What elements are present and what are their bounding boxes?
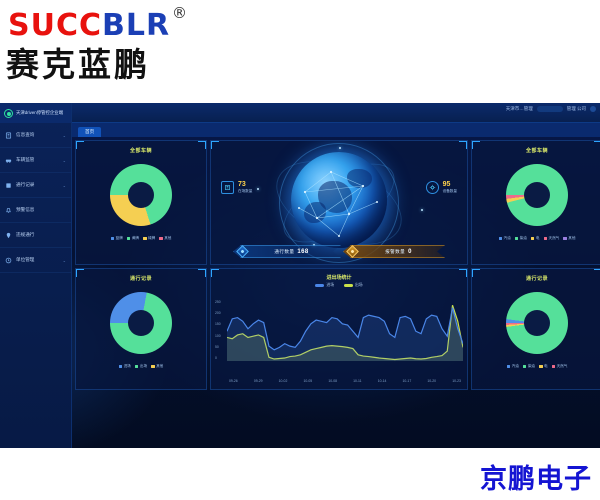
legend-item[interactable]: 其他 (563, 236, 575, 241)
legend-item[interactable]: 蓝牌 (111, 236, 123, 241)
chevron-down-icon: ⌄ (63, 158, 66, 163)
legend-label: 黄牌 (132, 236, 139, 241)
list-icon (5, 182, 12, 189)
y-tick-label: 50 (215, 345, 219, 349)
x-axis-ticks: 09-2609-2910-0210-0510-0810-1110-1410-17… (229, 379, 461, 383)
sidebar-item-label: 车辆监管 (16, 157, 59, 163)
legend-swatch (552, 365, 556, 369)
globe-network-lines (291, 152, 387, 248)
registered-trademark-icon: ® (172, 4, 187, 22)
topbar-avatar[interactable] (590, 106, 596, 112)
legend-label: 出场 (355, 283, 363, 288)
topbar-company-label: 管理 公司 (567, 106, 586, 112)
legend-item[interactable]: 电 (531, 236, 540, 241)
legend-swatch (539, 365, 543, 369)
legend-item[interactable]: 绿牌 (143, 236, 155, 241)
legend-swatch (135, 365, 139, 369)
orbit-dot (257, 188, 259, 190)
chevron-down-icon: ⌄ (63, 183, 66, 188)
legend-item[interactable]: 进场 (119, 364, 131, 369)
legend-label: 进场 (124, 364, 131, 369)
ribbon-alarm-count: 报警数量0 (343, 245, 445, 258)
x-tick-label: 10-23 (452, 379, 461, 383)
legend-label: 其他 (568, 236, 575, 241)
legend-item[interactable]: 天然气 (552, 364, 568, 369)
pin-icon (5, 232, 12, 239)
legend-item[interactable]: 汽油 (499, 236, 511, 241)
sidebar-title: 天津driven停管控企业端 (16, 110, 63, 116)
panel-title: 通行记录 (472, 269, 600, 282)
panel-inout-statistics: 进出场统计 进场出场 250200150100500 09-2609-2910-… (210, 268, 468, 390)
vehicle-card-icon (221, 181, 234, 194)
legend-label: 汽油 (512, 364, 519, 369)
legend-label: 电 (536, 236, 540, 241)
app-topbar: 天津市…管理 管理 公司 (0, 103, 600, 123)
legend-swatch (544, 237, 548, 241)
donut-ring (506, 292, 568, 354)
line-chart-plot: 250200150100500 (211, 299, 467, 371)
panel-all-vehicles-plate: 全部车辆 蓝牌黄牌绿牌其他 (75, 140, 207, 265)
tab-bar: 首页 (72, 123, 600, 137)
sidebar-item-label: 信息查询 (16, 132, 59, 138)
legend-swatch (499, 237, 503, 241)
legend-swatch (127, 237, 131, 241)
chart-legend: 汽油柴油电天然气其他 (472, 236, 600, 241)
legend-swatch (515, 237, 519, 241)
sidebar-item-label: 违规通行 (16, 232, 62, 238)
chevron-down-icon: ⌄ (63, 258, 66, 263)
sidebar-item-label: 预警信息 (16, 207, 62, 213)
legend-item[interactable]: 其他 (159, 236, 171, 241)
ribbon-pass-count: 通行数量168 (233, 245, 341, 258)
chart-legend: 汽油柴油电天然气 (472, 364, 600, 369)
gear-icon (426, 181, 439, 194)
legend-swatch (143, 237, 147, 241)
y-tick-label: 100 (215, 334, 221, 338)
x-tick-label: 10-11 (353, 379, 361, 383)
stat-label: 在场数量 (238, 189, 252, 194)
orbit-dot (421, 209, 423, 211)
y-tick-label: 250 (215, 300, 221, 304)
ribbon-label: 通行数量 (274, 249, 294, 254)
donut-chart-top-left (76, 154, 206, 236)
main-content: 首页 全部车辆 蓝牌黄牌绿牌其他 (72, 123, 600, 448)
brand-header: SUCCBLR ® 赛克蓝鹏 (0, 0, 600, 105)
ribbon-value: 168 (297, 249, 308, 255)
legend-item[interactable]: 柴油 (515, 236, 527, 241)
legend-label: 天然气 (557, 364, 568, 369)
legend-marker (315, 284, 324, 287)
donut-chart-bottom-left (76, 282, 206, 364)
x-tick-label: 10-17 (403, 379, 412, 383)
bell-icon (5, 207, 12, 214)
stat-label: 设备数量 (443, 189, 457, 194)
panel-title: 全部车辆 (76, 141, 206, 154)
panel-globe-overview: 73 在场数量 95 设备数量 通行数量168 (210, 140, 468, 265)
legend-swatch (531, 237, 535, 241)
x-tick-label: 10-14 (378, 379, 387, 383)
donut-chart-top-right (472, 154, 600, 236)
legend-label: 电 (544, 364, 548, 369)
dashboard-grid: 全部车辆 蓝牌黄牌绿牌其他 (72, 137, 600, 448)
legend-item[interactable]: 其他 (151, 364, 163, 369)
legend-item[interactable]: 进场 (315, 283, 334, 288)
legend-item[interactable]: 出场 (344, 283, 363, 288)
stat-value: 95 (443, 181, 457, 188)
sidebar-item-1[interactable]: 信息查询⌄ (0, 123, 71, 148)
car-icon (5, 157, 12, 164)
x-tick-label: 10-20 (427, 379, 436, 383)
stat-value: 73 (238, 181, 252, 188)
legend-item[interactable]: 出场 (135, 364, 147, 369)
chart-title: 进出场统计 (211, 269, 467, 281)
stat-device-count: 95 设备数量 (426, 181, 457, 194)
legend-label: 进场 (326, 283, 334, 288)
chart-legend: 蓝牌黄牌绿牌其他 (76, 236, 206, 241)
line-chart-svg (227, 299, 463, 361)
orbit-dot (339, 147, 341, 149)
legend-swatch (507, 365, 511, 369)
y-tick-label: 200 (215, 311, 221, 315)
sidebar-header: 天津driven停管控企业端 (0, 103, 71, 123)
sidebar-item-label: 通行记录 (16, 182, 59, 188)
legend-swatch (159, 237, 163, 241)
topbar-user-area[interactable]: 天津市…管理 管理 公司 (506, 106, 596, 112)
legend-label: 绿牌 (148, 236, 155, 241)
legend-swatch (119, 365, 123, 369)
sidebar-logo-icon (4, 109, 13, 118)
ribbon-label: 报警数量 (385, 249, 405, 254)
x-tick-label: 10-02 (279, 379, 288, 383)
legend-label: 天然气 (549, 236, 560, 241)
legend-item[interactable]: 黄牌 (127, 236, 139, 241)
area-fill-进场 (227, 308, 463, 361)
brand-chinese-logo: 赛克蓝鹏 (6, 38, 150, 86)
ribbon-value: 0 (408, 249, 412, 255)
panel-title: 通行记录 (76, 269, 206, 282)
legend-label: 汽油 (504, 236, 511, 241)
legend-label: 出场 (140, 364, 147, 369)
panel-title: 全部车辆 (472, 141, 600, 154)
donut-ring (506, 164, 568, 226)
x-tick-label: 09-26 (229, 379, 238, 383)
watermark: 京鹏电子 (480, 457, 592, 496)
tab-home[interactable]: 首页 (78, 127, 101, 137)
app-screenshot: 天津市…管理 管理 公司 天津driven停管控企业端 信息查询⌄车辆监管⌄通行… (0, 103, 600, 448)
chart-legend: 进场出场其他 (76, 364, 206, 369)
donut-ring (110, 164, 172, 226)
legend-marker (344, 284, 353, 287)
legend-item[interactable]: 柴油 (523, 364, 535, 369)
y-tick-label: 150 (215, 322, 221, 326)
x-tick-label: 10-08 (328, 379, 337, 383)
sidebar-item-3[interactable]: 通行记录⌄ (0, 173, 71, 198)
x-tick-label: 09-29 (254, 379, 263, 383)
y-tick-label: 0 (215, 356, 217, 360)
sidebar-item-5[interactable]: 违规通行 (0, 223, 71, 248)
sidebar-item-2[interactable]: 车辆监管⌄ (0, 148, 71, 173)
sidebar-item-4[interactable]: 预警信息 (0, 198, 71, 223)
clock-icon (5, 257, 12, 264)
stat-onsite-count: 73 在场数量 (221, 181, 252, 194)
ribbon-text: 报警数量0 (357, 249, 440, 255)
legend-item[interactable]: 天然气 (544, 236, 560, 241)
chevron-down-icon: ⌄ (63, 133, 66, 138)
sidebar-item-label: 单位管理 (16, 257, 59, 263)
legend-swatch (151, 365, 155, 369)
topbar-user-label: 天津市…管理 (506, 106, 533, 112)
legend-label: 其他 (156, 364, 163, 369)
topbar-search-pill[interactable] (537, 106, 563, 112)
legend-swatch (111, 237, 115, 241)
ribbon-text: 通行数量168 (247, 249, 336, 255)
globe-icon (291, 152, 387, 248)
legend-item[interactable]: 电 (539, 364, 548, 369)
sidebar-menu: 信息查询⌄车辆监管⌄通行记录⌄预警信息违规通行单位管理⌄ (0, 123, 71, 273)
legend-swatch (563, 237, 567, 241)
panel-all-vehicles-fuel: 全部车辆 汽油柴油电天然气其他 (471, 140, 600, 265)
legend-swatch (523, 365, 527, 369)
sidebar: 天津driven停管控企业端 信息查询⌄车辆监管⌄通行记录⌄预警信息违规通行单位… (0, 103, 72, 448)
x-tick-label: 10-05 (303, 379, 312, 383)
document-icon (5, 132, 12, 139)
legend-label: 蓝牌 (116, 236, 123, 241)
legend-label: 柴油 (520, 236, 527, 241)
chart-legend: 进场出场 (211, 283, 467, 288)
legend-label: 其他 (164, 236, 171, 241)
sidebar-item-6[interactable]: 单位管理⌄ (0, 248, 71, 273)
legend-label: 柴油 (528, 364, 535, 369)
donut-chart-bottom-right (472, 282, 600, 364)
donut-ring (110, 292, 172, 354)
panel-pass-records-fuel: 通行记录 汽油柴油电天然气 (471, 268, 600, 390)
legend-item[interactable]: 汽油 (507, 364, 519, 369)
diamond-icon (236, 245, 249, 258)
panel-pass-records-direction: 通行记录 进场出场其他 (75, 268, 207, 390)
